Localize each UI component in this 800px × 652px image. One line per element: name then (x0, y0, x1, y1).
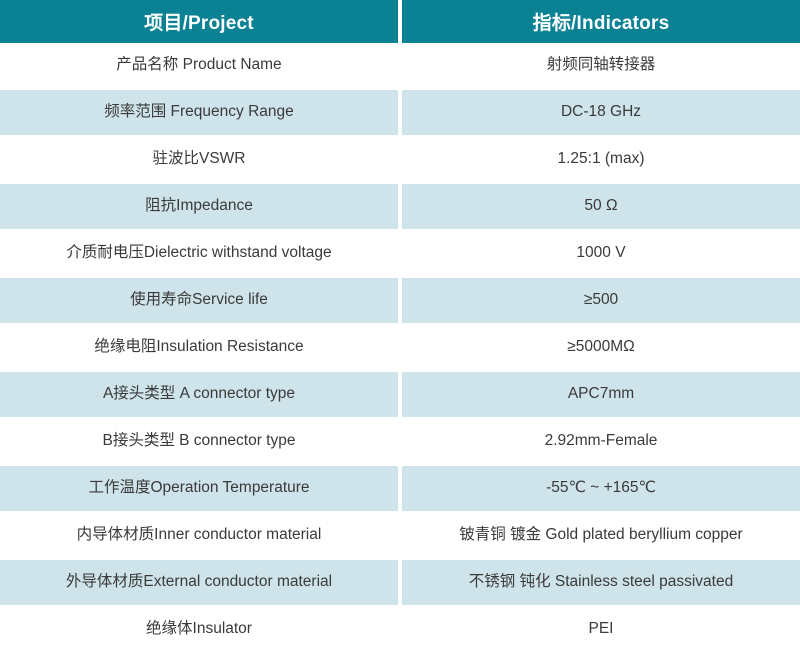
cell-project: 使用寿命Service life (0, 278, 398, 323)
table-row: A接头类型 A connector typeAPC7mm (0, 372, 800, 417)
cell-project: 驻波比VSWR (0, 137, 398, 182)
cell-indicator: 铍青铜 镀金 Gold plated beryllium copper (402, 513, 800, 558)
table-body: 产品名称 Product Name射频同轴转接器频率范围 Frequency R… (0, 43, 800, 652)
cell-project: 产品名称 Product Name (0, 43, 398, 88)
cell-project: A接头类型 A connector type (0, 372, 398, 417)
cell-indicator: ≥500 (402, 278, 800, 323)
table-row: 工作温度Operation Temperature-55℃ ~ +165℃ (0, 466, 800, 511)
cell-project: 阻抗Impedance (0, 184, 398, 229)
cell-project: 内导体材质Inner conductor material (0, 513, 398, 558)
table-row: 外导体材质External conductor material不锈钢 钝化 S… (0, 560, 800, 605)
table-row: 阻抗Impedance50 Ω (0, 184, 800, 229)
cell-indicator: 50 Ω (402, 184, 800, 229)
table-row: B接头类型 B connector type2.92mm-Female (0, 419, 800, 464)
cell-indicator: ≥5000MΩ (402, 325, 800, 370)
cell-indicator: 射频同轴转接器 (402, 43, 800, 88)
cell-indicator: -55℃ ~ +165℃ (402, 466, 800, 511)
cell-project: 工作温度Operation Temperature (0, 466, 398, 511)
table-row: 产品名称 Product Name射频同轴转接器 (0, 43, 800, 88)
table-row: 使用寿命Service life≥500 (0, 278, 800, 323)
cell-indicator: 1000 V (402, 231, 800, 276)
table-row: 内导体材质Inner conductor material铍青铜 镀金 Gold… (0, 513, 800, 558)
header-row: 项目/Project 指标/Indicators (0, 0, 800, 43)
column-header-project: 项目/Project (0, 0, 398, 43)
cell-project: B接头类型 B connector type (0, 419, 398, 464)
cell-project: 频率范围 Frequency Range (0, 90, 398, 135)
table-row: 驻波比VSWR1.25:1 (max) (0, 137, 800, 182)
cell-indicator: DC-18 GHz (402, 90, 800, 135)
table-row: 绝缘体InsulatorPEI (0, 607, 800, 652)
column-header-indicators: 指标/Indicators (402, 0, 800, 43)
cell-indicator: 不锈钢 钝化 Stainless steel passivated (402, 560, 800, 605)
table-row: 频率范围 Frequency RangeDC-18 GHz (0, 90, 800, 135)
table-row: 绝缘电阻Insulation Resistance≥5000MΩ (0, 325, 800, 370)
cell-indicator: APC7mm (402, 372, 800, 417)
specification-table: 项目/Project 指标/Indicators 产品名称 Product Na… (0, 0, 800, 652)
cell-project: 绝缘电阻Insulation Resistance (0, 325, 398, 370)
table-header: 项目/Project 指标/Indicators (0, 0, 800, 43)
cell-indicator: PEI (402, 607, 800, 652)
table-row: 介质耐电压Dielectric withstand voltage1000 V (0, 231, 800, 276)
cell-project: 绝缘体Insulator (0, 607, 398, 652)
cell-indicator: 2.92mm-Female (402, 419, 800, 464)
cell-project: 外导体材质External conductor material (0, 560, 398, 605)
cell-indicator: 1.25:1 (max) (402, 137, 800, 182)
cell-project: 介质耐电压Dielectric withstand voltage (0, 231, 398, 276)
